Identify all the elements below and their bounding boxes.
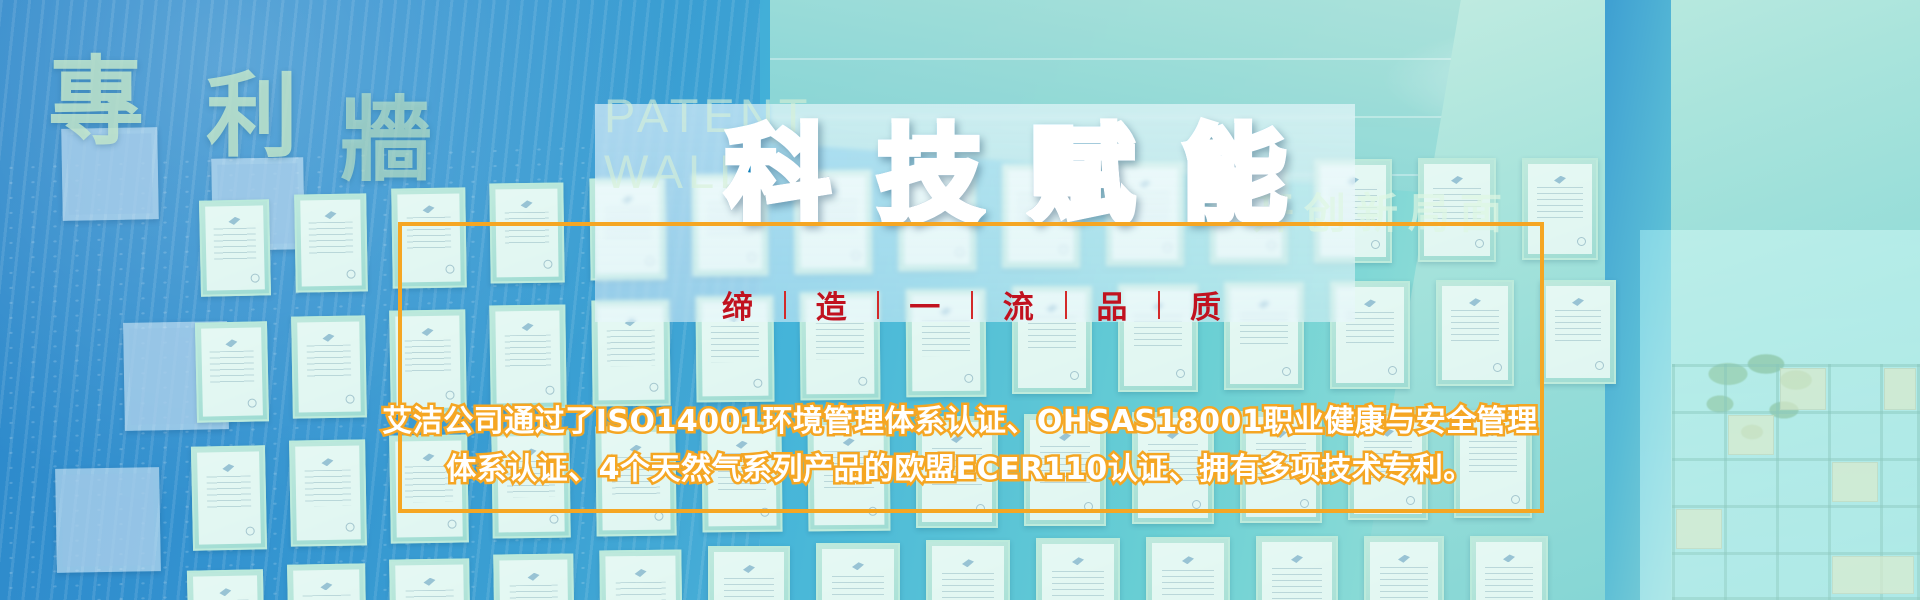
headline-char-4: 能 xyxy=(1182,123,1286,227)
certificate xyxy=(1146,537,1230,600)
orange-frame-bottom-rule xyxy=(398,509,1544,513)
certificate xyxy=(187,569,265,600)
certificate xyxy=(1256,536,1338,600)
certificate xyxy=(1364,536,1444,600)
orange-frame-top-rule xyxy=(398,222,1544,226)
wall-character-li: 利 xyxy=(206,42,300,175)
certificate xyxy=(389,558,471,600)
wall-character-zhuan: 專 xyxy=(48,24,146,163)
headline-char-2: 技 xyxy=(878,123,982,227)
headline: 科 技 赋 能 xyxy=(726,110,1286,240)
body-copy-line1: 艾洁公司通过了ISO14001环境管理体系认证、OHSAS18001职业健康与安… xyxy=(0,398,1920,446)
headline-char-1: 科 xyxy=(726,123,830,227)
certificate xyxy=(1036,538,1120,600)
certificate xyxy=(199,199,271,296)
certificate xyxy=(287,563,367,600)
certificate xyxy=(926,540,1010,600)
wall-character-qiang: 牆 xyxy=(340,66,434,199)
certificate xyxy=(1470,536,1548,600)
certificate xyxy=(294,193,368,292)
headline-char-3: 赋 xyxy=(1030,123,1134,227)
body-copy-line2: 体系认证、4个天然气系列产品的欧盟ECER110认证、拥有多项技术专利。 xyxy=(0,446,1920,494)
certificate xyxy=(1540,280,1616,384)
certificate xyxy=(708,546,790,600)
certificate xyxy=(816,543,900,600)
body-copy: 艾洁公司通过了ISO14001环境管理体系认证、OHSAS18001职业健康与安… xyxy=(0,398,1920,494)
certificate xyxy=(493,553,575,600)
certificate xyxy=(599,550,682,600)
patent-wall-banner: 專 利 牆 PATENT WALL 开创新局面 科 技 赋 能 缔 造 一 流 … xyxy=(0,0,1920,600)
